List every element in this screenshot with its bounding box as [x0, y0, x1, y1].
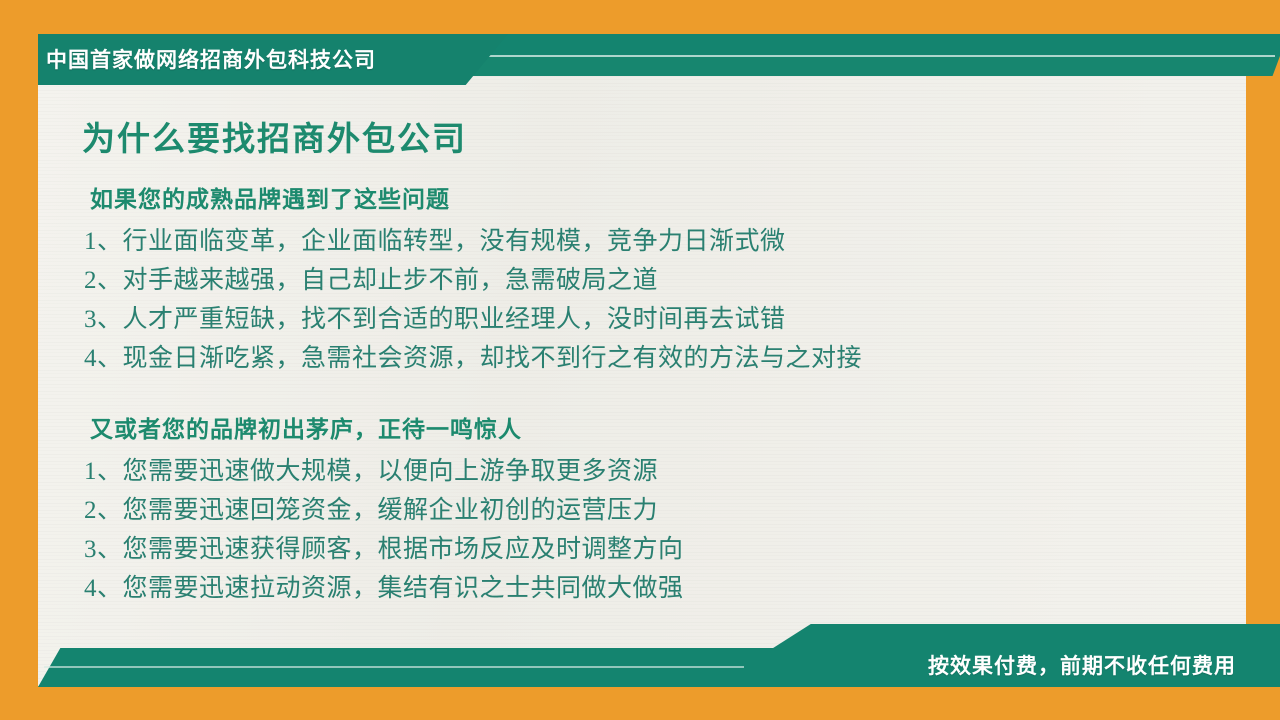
list-item: 2、您需要迅速回笼资金，缓解企业初创的运营压力: [84, 491, 684, 530]
bullet-list: 1、行业面临变革，企业面临转型，没有规模，竞争力日渐式微 2、对手越来越强，自己…: [84, 222, 862, 378]
list-item: 1、行业面临变革，企业面临转型，没有规模，竞争力日渐式微: [84, 222, 862, 261]
footer-label: 按效果付费，前期不收任何费用: [928, 650, 1236, 680]
list-item: 3、人才严重短缺，找不到合适的职业经理人，没时间再去试错: [84, 300, 862, 339]
content-area: 为什么要找招商外包公司 如果您的成熟品牌遇到了这些问题 1、行业面临变革，企业面…: [38, 90, 1246, 630]
slide-root: 中国首家做网络招商外包科技公司 为什么要找招商外包公司 如果您的成熟品牌遇到了这…: [0, 0, 1280, 720]
footer-hairline: [44, 666, 744, 668]
page-title: 为什么要找招商外包公司: [82, 112, 467, 160]
bullet-list: 1、您需要迅速做大规模，以便向上游争取更多资源 2、您需要迅速回笼资金，缓解企业…: [84, 452, 684, 608]
section-heading: 如果您的成熟品牌遇到了这些问题: [90, 180, 450, 214]
list-item: 2、对手越来越强，自己却止步不前，急需破局之道: [84, 261, 862, 300]
list-item: 1、您需要迅速做大规模，以便向上游争取更多资源: [84, 452, 684, 491]
header-tag-label: 中国首家做网络招商外包科技公司: [46, 44, 376, 74]
footer-band-upper: [770, 624, 1280, 650]
list-item: 4、您需要迅速拉动资源，集结有识之士共同做大做强: [84, 569, 684, 608]
list-item: 3、您需要迅速获得顾客，根据市场反应及时调整方向: [84, 530, 684, 569]
section-heading: 又或者您的品牌初出茅庐，正待一鸣惊人: [90, 410, 522, 444]
list-item: 4、现金日渐吃紧，急需社会资源，却找不到行之有效的方法与之对接: [84, 339, 862, 378]
